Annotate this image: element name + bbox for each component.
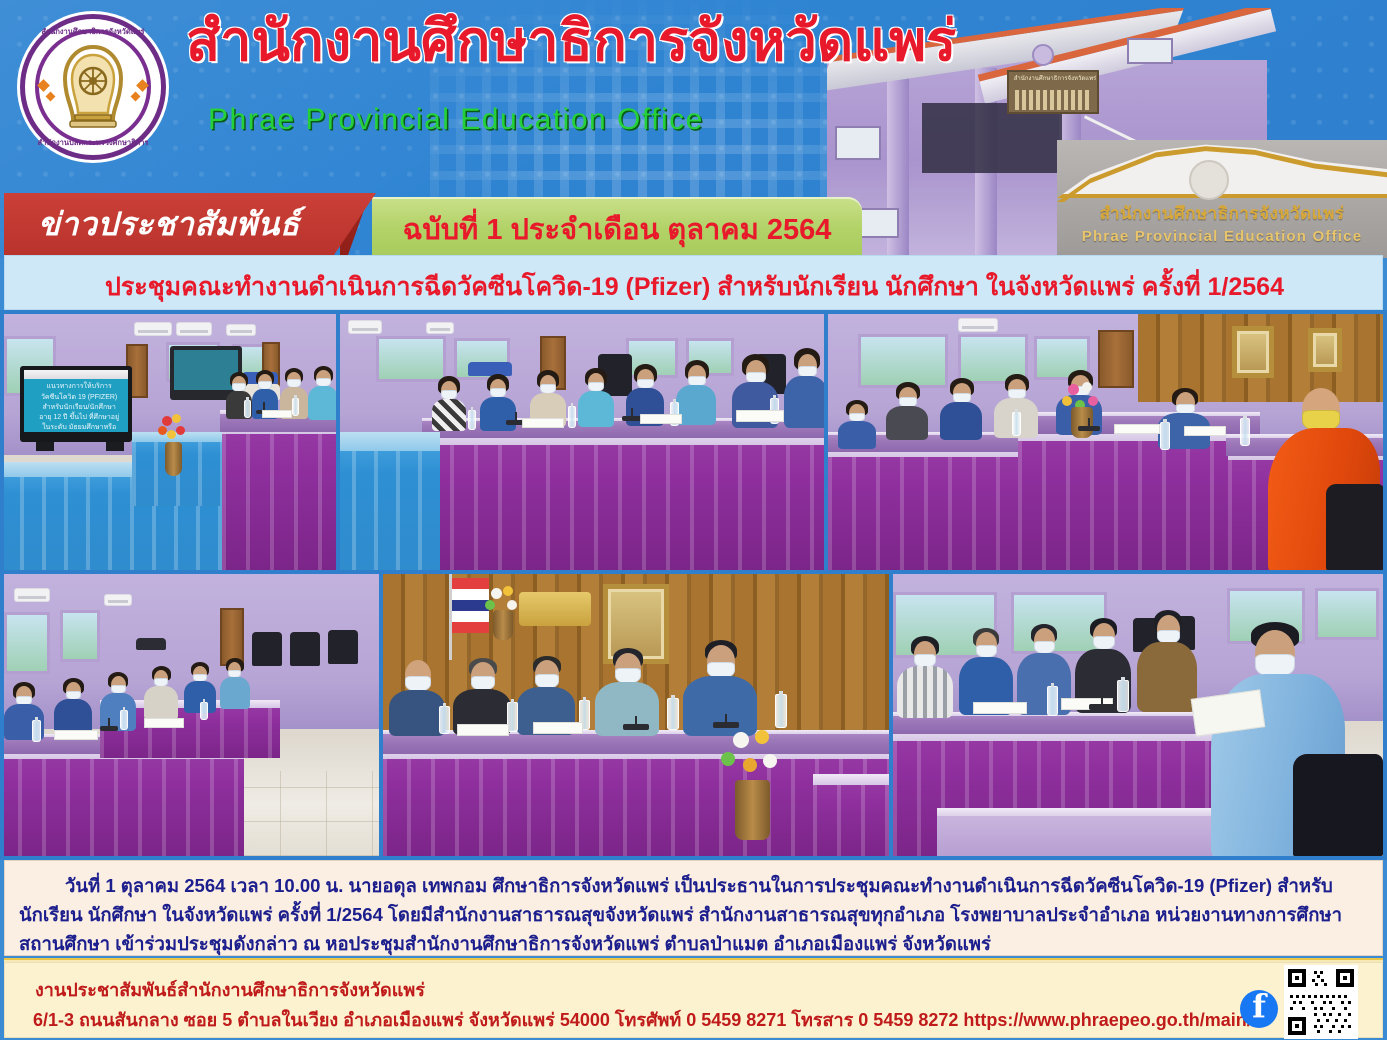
news-ribbon-label: ข่าวประชาสัมพันธ์ bbox=[38, 199, 300, 250]
article-paragraph: วันที่ 1 ตุลาคม 2564 เวลา 10.00 น. นายอด… bbox=[5, 861, 1382, 958]
logo-text-top: สำนักงานศึกษาธิการจังหวัดแพร่ bbox=[25, 26, 161, 38]
facebook-icon[interactable]: f bbox=[1240, 990, 1278, 1028]
page-footer: งานประชาสัมพันธ์สำนักงานศึกษาธิการจังหวั… bbox=[4, 962, 1383, 1038]
logo-text-bottom: สำนักงานปลัดกระทรวงศึกษาธิการ bbox=[25, 137, 161, 149]
photo-1[interactable]: แนวทางการให้บริการ วัคซีนโควิด 19 (PFIZE… bbox=[4, 314, 336, 570]
footer-office-name: งานประชาสัมพันธ์สำนักงานศึกษาธิการจังหวั… bbox=[35, 975, 425, 1004]
photo-5[interactable] bbox=[383, 574, 889, 856]
qr-code-icon[interactable] bbox=[1284, 965, 1358, 1039]
news-ribbon: ข่าวประชาสัมพันธ์ bbox=[4, 193, 376, 255]
newsletter-page: สำนักงานศึกษาธิการจังหวัดแพร่ สำนักงานศึ… bbox=[0, 0, 1387, 1040]
building-name-sign: สำนักงานศึกษาธิการจังหวัดแพร่ Phrae Prov… bbox=[1057, 140, 1387, 258]
issue-banner: ฉบับที่ 1 ประจำเดือน ตุลาคม 2564 bbox=[372, 197, 862, 255]
footer-contact-info: 6/1-3 ถนนสันกลาง ซอย 5 ตำบลในเวียง อำเภอ… bbox=[33, 1005, 1252, 1034]
photo-6[interactable] bbox=[893, 574, 1383, 856]
footer-divider bbox=[4, 956, 1383, 962]
ministry-emblem-icon: สำนักงานศึกษาธิการจังหวัดแพร่ สำนักงานปล… bbox=[20, 14, 166, 160]
page-title: สำนักงานศึกษาธิการจังหวัดแพร่ bbox=[186, 12, 956, 71]
photo-2[interactable] bbox=[340, 314, 824, 570]
subheader-bar: ประชุมคณะทำงานดำเนินการฉีดวัคซีนโควิด-19… bbox=[4, 255, 1383, 310]
presentation-screen-text: แนวทางการให้บริการ วัคซีนโควิด 19 (PFIZE… bbox=[36, 382, 121, 432]
photo-grid: แนวทางการให้บริการ วัคซีนโควิด 19 (PFIZE… bbox=[0, 310, 1387, 860]
issue-label: ฉบับที่ 1 ประจำเดือน ตุลาคม 2564 bbox=[372, 206, 862, 252]
page-subtitle-english: Phrae Provincial Education Office bbox=[208, 103, 704, 137]
photo-3[interactable] bbox=[828, 314, 1383, 570]
sema-emblem-icon bbox=[57, 45, 129, 131]
building-sign-english: Phrae Provincial Education Office bbox=[1057, 228, 1387, 245]
facebook-glyph: f bbox=[1240, 987, 1278, 1025]
subheader-title: ประชุมคณะทำงานดำเนินการฉีดวัคซีนโควิด-19… bbox=[5, 267, 1384, 307]
photo-4[interactable] bbox=[4, 574, 379, 856]
building-sign-thai: สำนักงานศึกษาธิการจังหวัดแพร่ bbox=[1057, 200, 1387, 227]
building-plaque-text: สำนักงานศึกษาธิการจังหวัดแพร่ bbox=[1009, 73, 1101, 83]
article-body: วันที่ 1 ตุลาคม 2564 เวลา 10.00 น. นายอด… bbox=[4, 860, 1383, 956]
